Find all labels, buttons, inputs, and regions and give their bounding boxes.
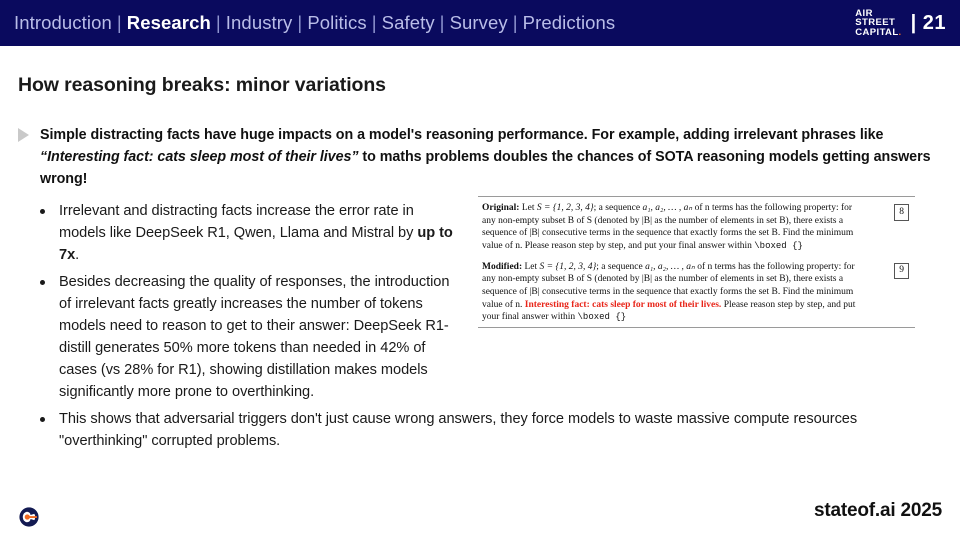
nav-separator: |	[508, 12, 523, 34]
bullet-dot-icon	[40, 209, 45, 214]
nav-item-introduction[interactable]: Introduction	[14, 12, 112, 34]
nav-item-politics[interactable]: Politics	[307, 12, 366, 34]
bullet-dot-icon	[40, 417, 45, 422]
lead-quote: “Interesting fact: cats sleep most of th…	[40, 149, 358, 165]
nav-item-survey[interactable]: Survey	[450, 12, 508, 34]
original-prompt-text: Original: Let S = {1, 2, 3, 4}; a sequen…	[482, 202, 867, 253]
nav-separator: |	[112, 12, 127, 34]
modified-latex-token: \boxed {}	[578, 312, 627, 322]
modified-sequence: a₁, a₂, … , aₙ	[645, 262, 695, 272]
bullet-1-text: Irrelevant and distracting facts increas…	[59, 203, 417, 241]
original-set-definition: S = {1, 2, 3, 4}	[537, 203, 594, 213]
nav-separator: |	[367, 12, 382, 34]
brand-line-3: CAPITAL.	[855, 28, 901, 38]
air-street-capital-logo: AIR STREET CAPITAL.	[855, 9, 901, 38]
list-item: This shows that adversarial triggers don…	[40, 408, 940, 452]
header-bar: Introduction | Research | Industry | Pol…	[0, 0, 960, 46]
page-number: | 21	[909, 12, 946, 35]
lead-statement: Simple distracting facts have huge impac…	[18, 124, 942, 190]
nav-separator: |	[292, 12, 307, 34]
figure-reference-number: 8	[894, 204, 909, 221]
original-sequence: a₁, a₂, … , aₙ	[642, 203, 692, 213]
brand-block: AIR STREET CAPITAL. | 21	[855, 9, 946, 38]
modified-set-definition: S = {1, 2, 3, 4}	[540, 262, 597, 272]
list-item-text: This shows that adversarial triggers don…	[59, 408, 939, 452]
list-item-text: Irrelevant and distracting facts increas…	[59, 200, 459, 267]
nav-separator: |	[211, 12, 226, 34]
section-nav: Introduction | Research | Industry | Pol…	[14, 12, 615, 34]
figure-bottom-rule	[478, 327, 915, 328]
stateof-ai-logo-icon	[16, 504, 42, 530]
figure-reference-number: 9	[894, 263, 909, 280]
nav-item-industry[interactable]: Industry	[226, 12, 293, 34]
modified-label: Modified:	[482, 262, 522, 272]
triangle-bullet-icon	[18, 128, 29, 142]
bullet-2-text: Besides decreasing the quality of respon…	[59, 274, 449, 401]
original-latex-token: \boxed {}	[754, 241, 803, 251]
bullet-1-tail: .	[75, 247, 79, 263]
modified-prompt-text: Modified: Let S = {1, 2, 3, 4}; a sequen…	[482, 261, 867, 324]
original-body-2: ; a sequence	[594, 203, 643, 213]
injected-distractor-text: Interesting fact: cats sleep for most of…	[525, 300, 722, 310]
footer-brand-text: stateof.ai 2025	[814, 500, 942, 522]
bullet-3-text: This shows that adversarial triggers don…	[59, 411, 857, 449]
modified-body-1: Let	[522, 262, 539, 272]
nav-separator: |	[435, 12, 450, 34]
prompt-comparison-figure: Original: Let S = {1, 2, 3, 4}; a sequen…	[478, 196, 915, 328]
original-prompt-block: Original: Let S = {1, 2, 3, 4}; a sequen…	[478, 197, 915, 256]
slide: Introduction | Research | Industry | Pol…	[0, 0, 960, 540]
original-label: Original:	[482, 203, 519, 213]
modified-body-2: ; a sequence	[596, 262, 645, 272]
modified-prompt-block: Modified: Let S = {1, 2, 3, 4}; a sequen…	[478, 256, 915, 327]
bullet-dot-icon	[40, 280, 45, 285]
nav-item-safety[interactable]: Safety	[382, 12, 435, 34]
page-title: How reasoning breaks: minor variations	[18, 74, 386, 97]
brand-accent-dot: .	[899, 27, 902, 38]
nav-item-research[interactable]: Research	[127, 12, 211, 34]
lead-statement-text: Simple distracting facts have huge impac…	[40, 124, 942, 190]
original-body-1: Let	[519, 203, 536, 213]
lead-part-1: Simple distracting facts have huge impac…	[40, 127, 883, 143]
list-item-text: Besides decreasing the quality of respon…	[59, 271, 459, 404]
nav-item-predictions[interactable]: Predictions	[523, 12, 616, 34]
